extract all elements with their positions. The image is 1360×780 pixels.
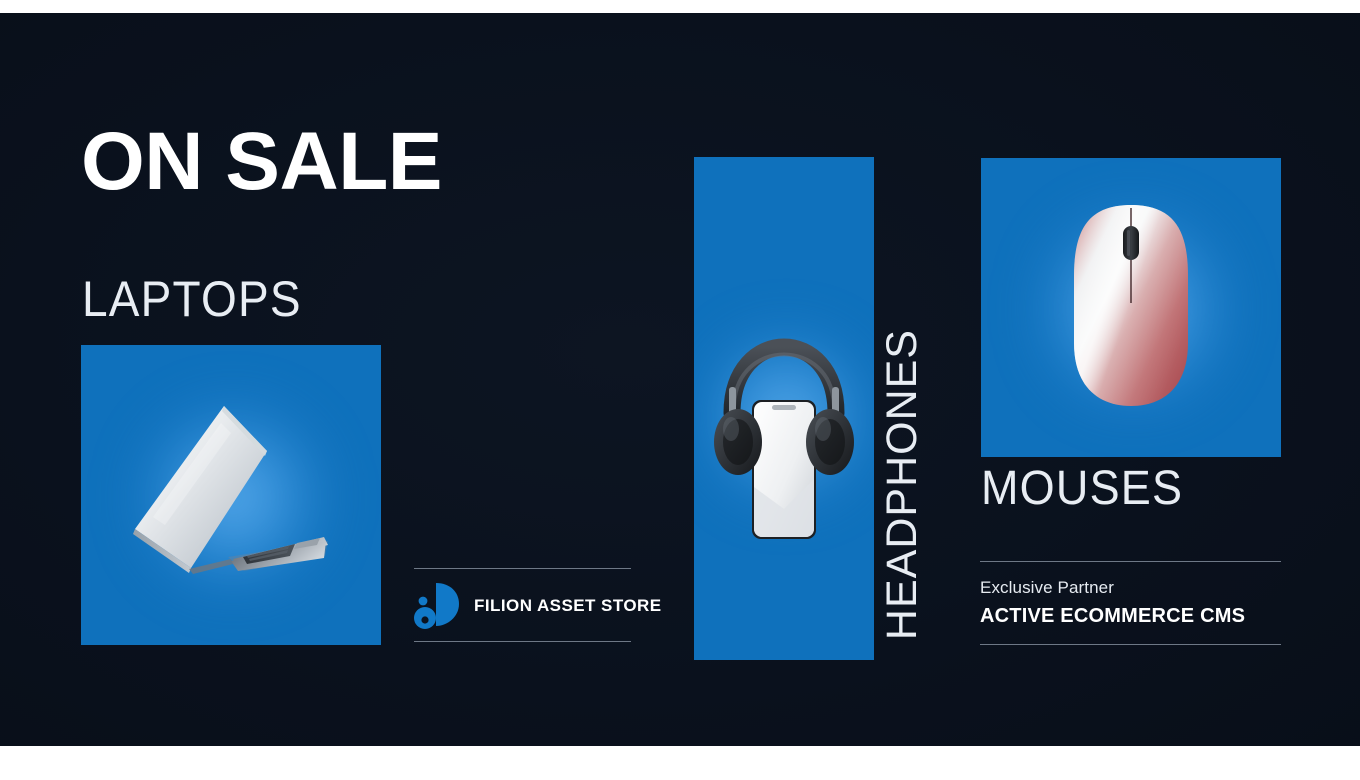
filion-droplet-logo-icon xyxy=(414,579,460,633)
partner-name: ACTIVE ECOMMERCE CMS xyxy=(980,605,1245,628)
product-tile-headphones[interactable] xyxy=(694,157,874,660)
category-label-headphones: HEADPHONES xyxy=(878,329,927,640)
brand-lockup[interactable]: FILION ASSET STORE xyxy=(414,576,631,636)
partner-divider-top xyxy=(980,561,1281,562)
slide-top-margin xyxy=(0,0,1360,13)
brand-divider-top xyxy=(414,568,631,569)
category-label-laptops: LAPTOPS xyxy=(82,274,302,324)
slide-canvas: ON SALE LAPTOPS xyxy=(0,13,1360,746)
product-tile-laptops[interactable] xyxy=(81,345,381,645)
computer-mouse-product-image xyxy=(981,158,1281,457)
partner-divider-bottom xyxy=(980,644,1281,645)
laptop-product-image xyxy=(81,345,381,645)
page-title: ON SALE xyxy=(81,121,442,203)
product-tile-mouses[interactable] xyxy=(981,158,1281,457)
brand-divider-bottom xyxy=(414,641,631,642)
slide-bottom-margin xyxy=(0,746,1360,780)
category-label-mouses: MOUSES xyxy=(981,463,1183,512)
partner-eyebrow-label: Exclusive Partner xyxy=(980,578,1114,598)
promo-slide: ON SALE LAPTOPS xyxy=(0,0,1360,780)
headphones-with-phone-product-image xyxy=(694,157,874,660)
brand-name-label: FILION ASSET STORE xyxy=(474,596,662,616)
